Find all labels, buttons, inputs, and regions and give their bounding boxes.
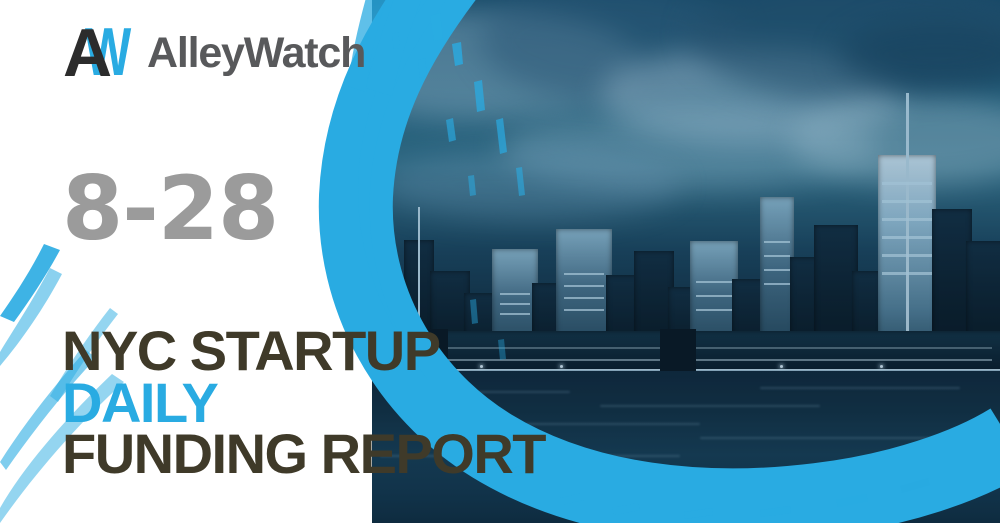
logo-letter-a: A bbox=[63, 22, 108, 84]
headline-line-daily: DAILY bbox=[62, 377, 545, 429]
alleywatch-logo-mark: W A bbox=[63, 22, 141, 84]
headline-block: NYC STARTUP DAILY FUNDING REPORT bbox=[62, 325, 545, 480]
alleywatch-funding-report-banner: W A AlleyWatch 8-28 NYC STARTUP DAILY FU… bbox=[0, 0, 1000, 523]
alleywatch-wordmark: AlleyWatch bbox=[147, 29, 365, 78]
alleywatch-logo[interactable]: W A AlleyWatch bbox=[63, 18, 365, 88]
report-date: 8-28 bbox=[62, 165, 278, 253]
headline-line-nyc-startup: NYC STARTUP bbox=[62, 325, 545, 377]
banner-content: W A AlleyWatch 8-28 NYC STARTUP DAILY FU… bbox=[0, 0, 1000, 523]
headline-line-funding-report: FUNDING REPORT bbox=[62, 428, 545, 480]
